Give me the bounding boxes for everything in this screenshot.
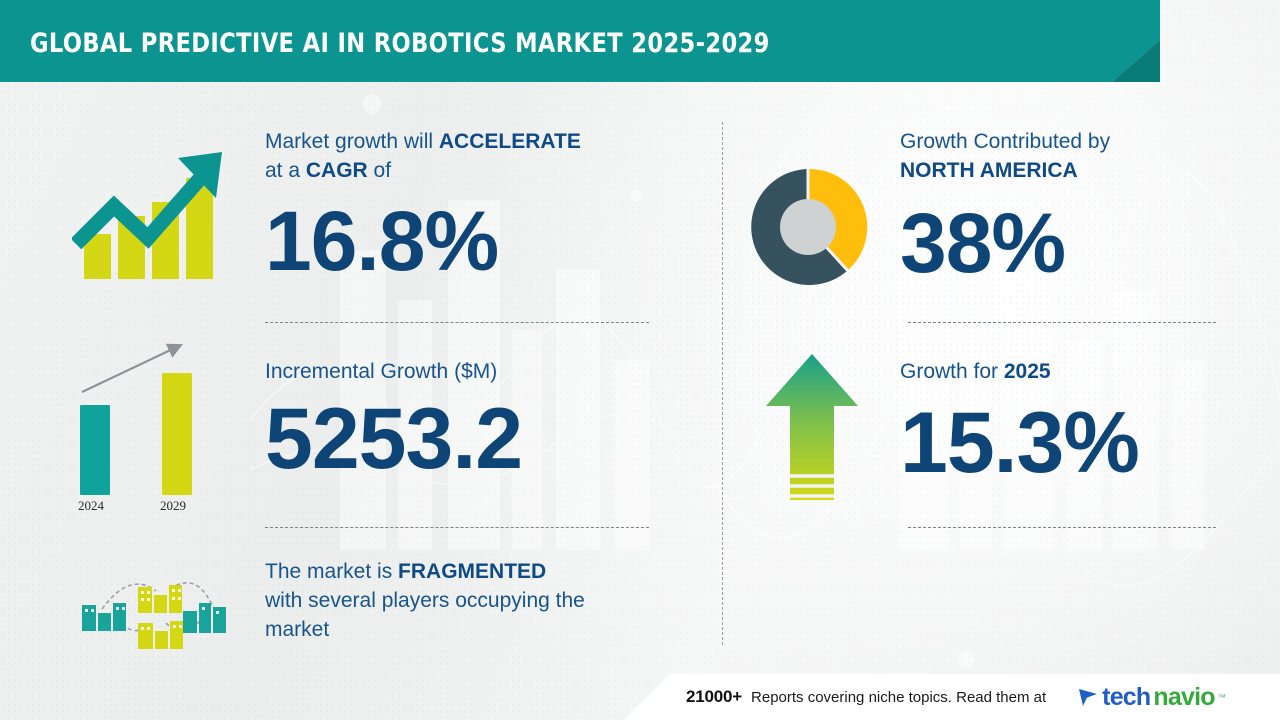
cagr-caption-line2-suffix: of xyxy=(368,159,391,182)
growth-2025-caption-prefix: Growth for xyxy=(900,360,1004,383)
column-divider xyxy=(722,122,723,645)
growth-2025-caption: Growth for 2025 xyxy=(900,357,1139,386)
stat-north-america: Growth Contributed by NORTH AMERICA 38% xyxy=(900,127,1110,285)
footer: 21000+ Reports covering niche topics. Re… xyxy=(686,674,1226,720)
stat-cagr: Market growth will ACCELERATE at a CAGR … xyxy=(265,127,581,283)
footer-tagline: Reports covering niche topics. Read them… xyxy=(751,689,1046,706)
north-america-value: 38% xyxy=(900,201,1110,285)
city-network-icon xyxy=(78,565,233,660)
divider-left-2 xyxy=(265,527,649,528)
growth-chart-icon xyxy=(72,150,232,290)
fragmentation-line2: with several players occupying the xyxy=(265,586,585,615)
divider-right-1 xyxy=(908,322,1216,323)
growth-2025-year: 2025 xyxy=(1004,360,1051,383)
cagr-caption-accelerate: ACCELERATE xyxy=(439,130,581,153)
cagr-value: 16.8% xyxy=(265,199,581,283)
cagr-caption-prefix: Market growth will xyxy=(265,130,439,153)
bar-comparison-icon: 2024 2029 xyxy=(72,330,222,525)
cagr-caption-line1: Market growth will ACCELERATE xyxy=(265,127,581,156)
trademark-symbol: ™ xyxy=(1218,693,1226,702)
divider-left-1 xyxy=(265,322,649,323)
bar-label-2024: 2024 xyxy=(78,498,104,514)
north-america-region-label: NORTH AMERICA xyxy=(900,159,1078,182)
technavio-logo[interactable]: technavio™ xyxy=(1077,685,1226,710)
fragmentation-line1: The market is FRAGMENTED xyxy=(265,557,585,586)
fragmentation-line3: market xyxy=(265,615,585,644)
stat-growth-2025: Growth for 2025 15.3% xyxy=(900,357,1139,486)
north-america-caption-line1: Growth Contributed by xyxy=(900,127,1110,156)
fragmentation-line1-prefix: The market is xyxy=(265,560,398,583)
up-arrow-icon xyxy=(762,350,862,505)
cagr-caption-line2: at a CAGR of xyxy=(265,156,581,185)
divider-right-2 xyxy=(908,527,1216,528)
incremental-growth-caption: Incremental Growth ($M) xyxy=(265,357,522,386)
footer-report-count: 21000+ xyxy=(686,687,742,707)
bar-label-2029: 2029 xyxy=(160,498,186,514)
fragmentation-strong: FRAGMENTED xyxy=(398,560,546,583)
incremental-growth-value: 5253.2 xyxy=(265,396,522,482)
infographic-canvas: GLOBAL PREDICTIVE AI IN ROBOTICS MARKET … xyxy=(0,0,1280,720)
stat-incremental-growth: Incremental Growth ($M) 5253.2 xyxy=(265,357,522,482)
page-title: GLOBAL PREDICTIVE AI IN ROBOTICS MARKET … xyxy=(30,28,770,59)
technavio-logo-navio: navio xyxy=(1153,685,1214,710)
technavio-logo-tech: tech xyxy=(1102,685,1150,710)
donut-chart-icon xyxy=(746,165,870,294)
cagr-caption-cagr: CAGR xyxy=(306,159,368,182)
growth-2025-value: 15.3% xyxy=(900,400,1139,486)
cagr-caption-line2-prefix: at a xyxy=(265,159,306,182)
north-america-caption-line2: NORTH AMERICA xyxy=(900,156,1110,185)
stat-fragmentation: The market is FRAGMENTED with several pl… xyxy=(265,557,585,644)
technavio-mark-icon xyxy=(1077,685,1099,709)
